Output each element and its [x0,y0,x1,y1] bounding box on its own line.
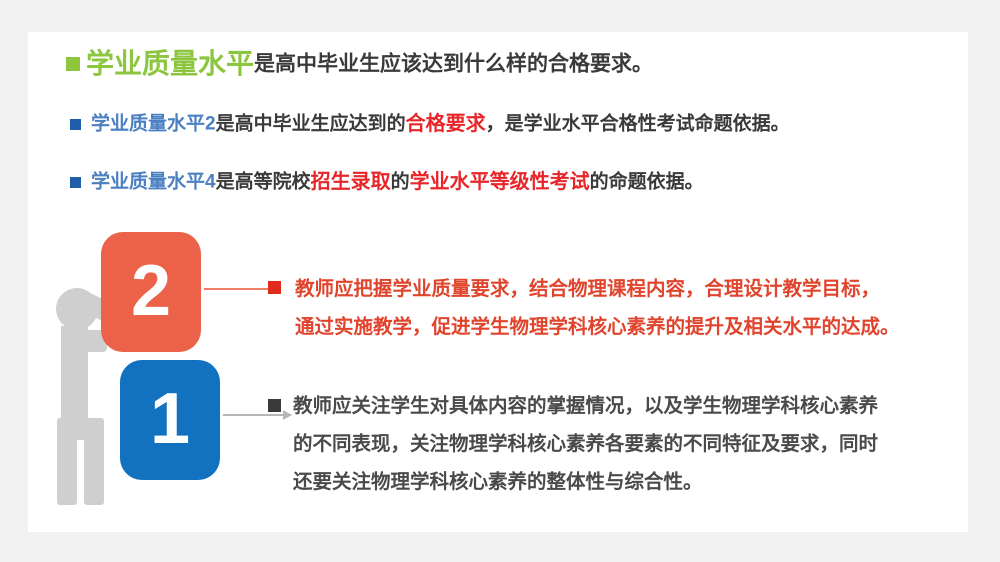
callout-red: 教师应把握学业质量要求，结合物理课程内容，合理设计教学目标， 通过实施教学，促进… [268,270,900,346]
red-square-bullet-icon [268,281,281,294]
bullet-item-2: 学业质量水平2是高中毕业生应达到的合格要求，是学业水平合格性考试命题依据。 [70,114,790,134]
badge-one: 1 [120,360,220,480]
bullet-3-segment-2: 是高等院校 [216,172,311,193]
arrow-shaft [204,288,276,290]
slide-canvas: 学业质量水平是高中毕业生应该达到什么样的合格要求。 学业质量水平2是高中毕业生应… [28,32,968,532]
bullet-3-segment-1: 学业质量水平4 [91,172,216,193]
blue-square-bullet-icon [70,119,81,130]
dark-square-bullet-icon [268,399,281,412]
callout-gray-lines: 教师应关注学生对具体内容的掌握情况，以及学生物理学科核心素养 的不同表现，关注物… [293,387,878,501]
bullet-item-3: 学业质量水平4是高等院校招生录取的学业水平等级性考试的命题依据。 [70,172,704,192]
bullet-2-segment-3: 合格要求 [406,113,486,135]
bullet-3-segment-3: 招生录取 [311,171,391,193]
bullet-item-1: 学业质量水平是高中毕业生应该达到什么样的合格要求。 [66,50,653,78]
callout-red-line-2: 通过实施教学，促进学生物理学科核心素养的提升及相关水平的达成。 [295,308,900,346]
badge-two: 2 [101,232,201,352]
bullet-3-segment-4: 的 [391,172,410,193]
bullet-2-segment-4: ，是学业水平合格性考试命题依据。 [486,114,790,135]
bullet-1-rest: 是高中毕业生应该达到什么样的合格要求。 [254,53,653,76]
bullet-2-segment-2: 是高中毕业生应达到的 [216,114,406,135]
figure-leg-left [57,427,77,505]
figure-leg-right [84,427,104,505]
bullet-3-segment-6: 的命题依据。 [590,172,704,193]
green-square-bullet-icon [66,57,80,71]
bullet-2-segment-1: 学业质量水平2 [91,114,216,135]
callout-red-lines: 教师应把握学业质量要求，结合物理课程内容，合理设计教学目标， 通过实施教学，促进… [295,270,900,346]
callout-gray-line-1: 教师应关注学生对具体内容的掌握情况，以及学生物理学科核心素养 [293,387,878,425]
connector-arrow-red [204,288,276,290]
callout-gray-line-2: 的不同表现，关注物理学科核心素养各要素的不同特征及要求，同时 [293,425,878,463]
bullet-3-segment-5: 学业水平等级性考试 [410,171,590,193]
callout-gray: 教师应关注学生对具体内容的掌握情况，以及学生物理学科核心素养 的不同表现，关注物… [266,387,878,501]
callout-red-line-1: 教师应把握学业质量要求，结合物理课程内容，合理设计教学目标， [295,270,900,308]
bullet-1-highlight: 学业质量水平 [86,48,254,79]
callout-gray-line-3: 还要关注物理学科核心素养的整体性与综合性。 [293,463,878,501]
slide-page: 学业质量水平是高中毕业生应该达到什么样的合格要求。 学业质量水平2是高中毕业生应… [0,0,1000,562]
blue-square-bullet-icon [70,177,81,188]
